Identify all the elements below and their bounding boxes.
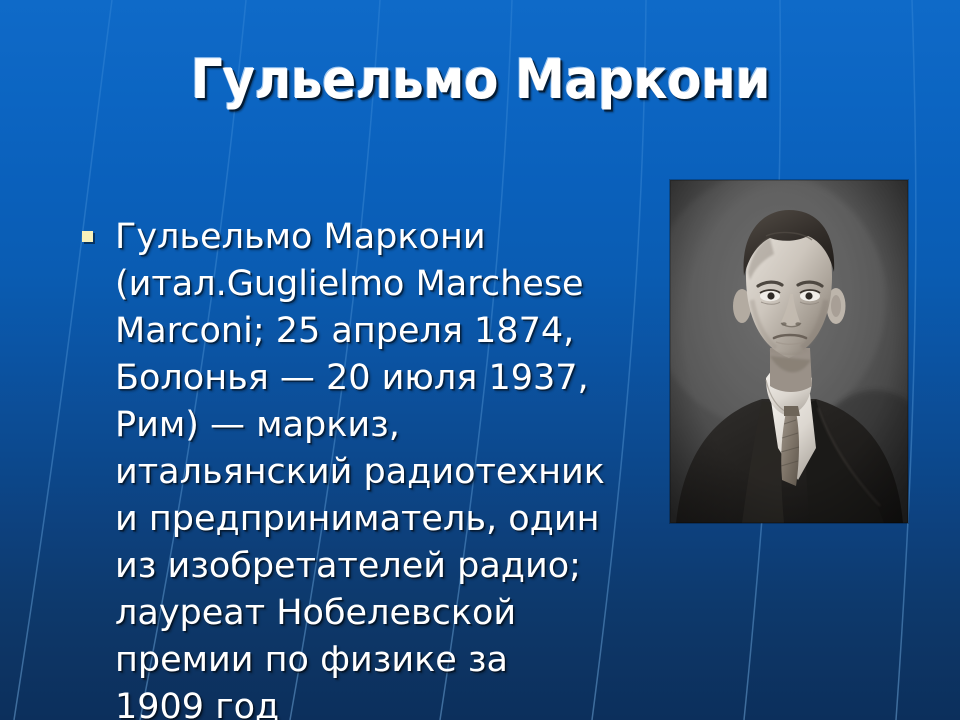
bullet-item-text: Гульельмо Маркони (итал.Guglielmo Marche… — [115, 214, 642, 720]
body-content: Гульельмо Маркони (итал.Guglielmo Marche… — [82, 214, 642, 720]
page-title: Гульельмо Маркони — [190, 52, 769, 109]
square-bullet-icon — [82, 231, 93, 242]
bullet-list-item: Гульельмо Маркони (итал.Guglielmo Marche… — [82, 214, 642, 720]
portrait-photo — [670, 180, 908, 523]
presentation-slide: Гульельмо Маркони Гульельмо Маркони (ита… — [0, 0, 960, 720]
title-container: Гульельмо Маркони — [0, 52, 960, 109]
